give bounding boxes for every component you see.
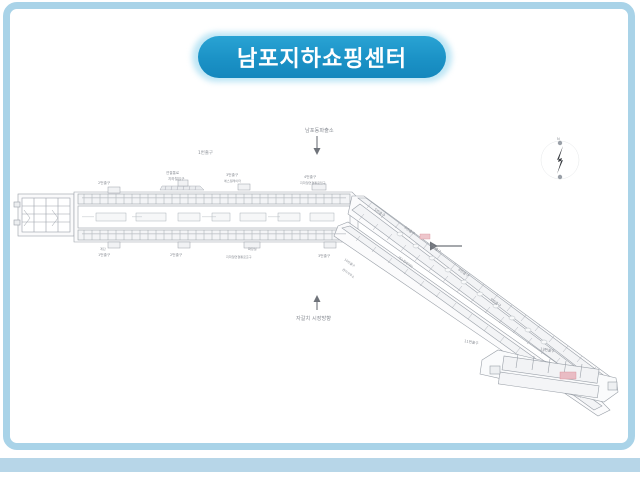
accent-highlight-block-2: [420, 234, 430, 239]
map-label: 11번출구: [464, 338, 480, 346]
map-label: 화장실: [248, 246, 257, 251]
accent-highlight-block: [560, 372, 576, 379]
map-label: 에스컬레이터: [224, 178, 241, 183]
compass-north-label: N: [557, 137, 560, 141]
stair-hatching: [160, 186, 204, 190]
exit-stubs-bottom: [108, 242, 336, 248]
floor-plan-svg: 남포동파출소 자갈치 시장방향 N: [12, 110, 628, 430]
map-label: 연결통로: [166, 170, 180, 175]
map-label: 3번출구: [318, 253, 331, 258]
map-label: 1번출구: [198, 149, 213, 156]
map-label: 계단: [100, 246, 106, 251]
map-label: 지하철연결통로출구: [226, 254, 252, 259]
map-label: 지하철입구: [168, 176, 185, 181]
bottom-accent-band: [0, 458, 640, 472]
exit-stubs-top: [108, 180, 326, 193]
title-pill: 남포지하쇼핑센터: [198, 36, 446, 78]
station-block-left: [14, 194, 74, 236]
map-label: 3번출구: [226, 172, 239, 177]
map-label: 지하철연결통로입구: [300, 180, 326, 185]
map-label: 2번출구: [98, 180, 111, 185]
map-label: 관리사무소: [341, 267, 356, 280]
map-canvas: 남포동파출소 자갈치 시장방향 N: [12, 110, 628, 430]
map-label: 4번출구: [304, 174, 317, 179]
map-page: 남포지하쇼핑센터: [0, 0, 640, 480]
page-title: 남포지하쇼핑센터: [237, 41, 407, 73]
map-label: 10번출구: [343, 257, 356, 268]
bottom-white-strip: [0, 472, 640, 480]
compass-rose: N: [541, 137, 579, 179]
bottom-entrance-marker: 자갈치 시장방향: [296, 295, 331, 322]
marker-label-bottom: 자갈치 시장방향: [296, 314, 331, 322]
top-entrance-marker: 남포동파출소: [305, 126, 334, 155]
map-label: 2번출구: [170, 252, 183, 257]
map-label: 1번출구: [98, 252, 111, 257]
marker-label-top: 남포동파출소: [305, 126, 334, 134]
